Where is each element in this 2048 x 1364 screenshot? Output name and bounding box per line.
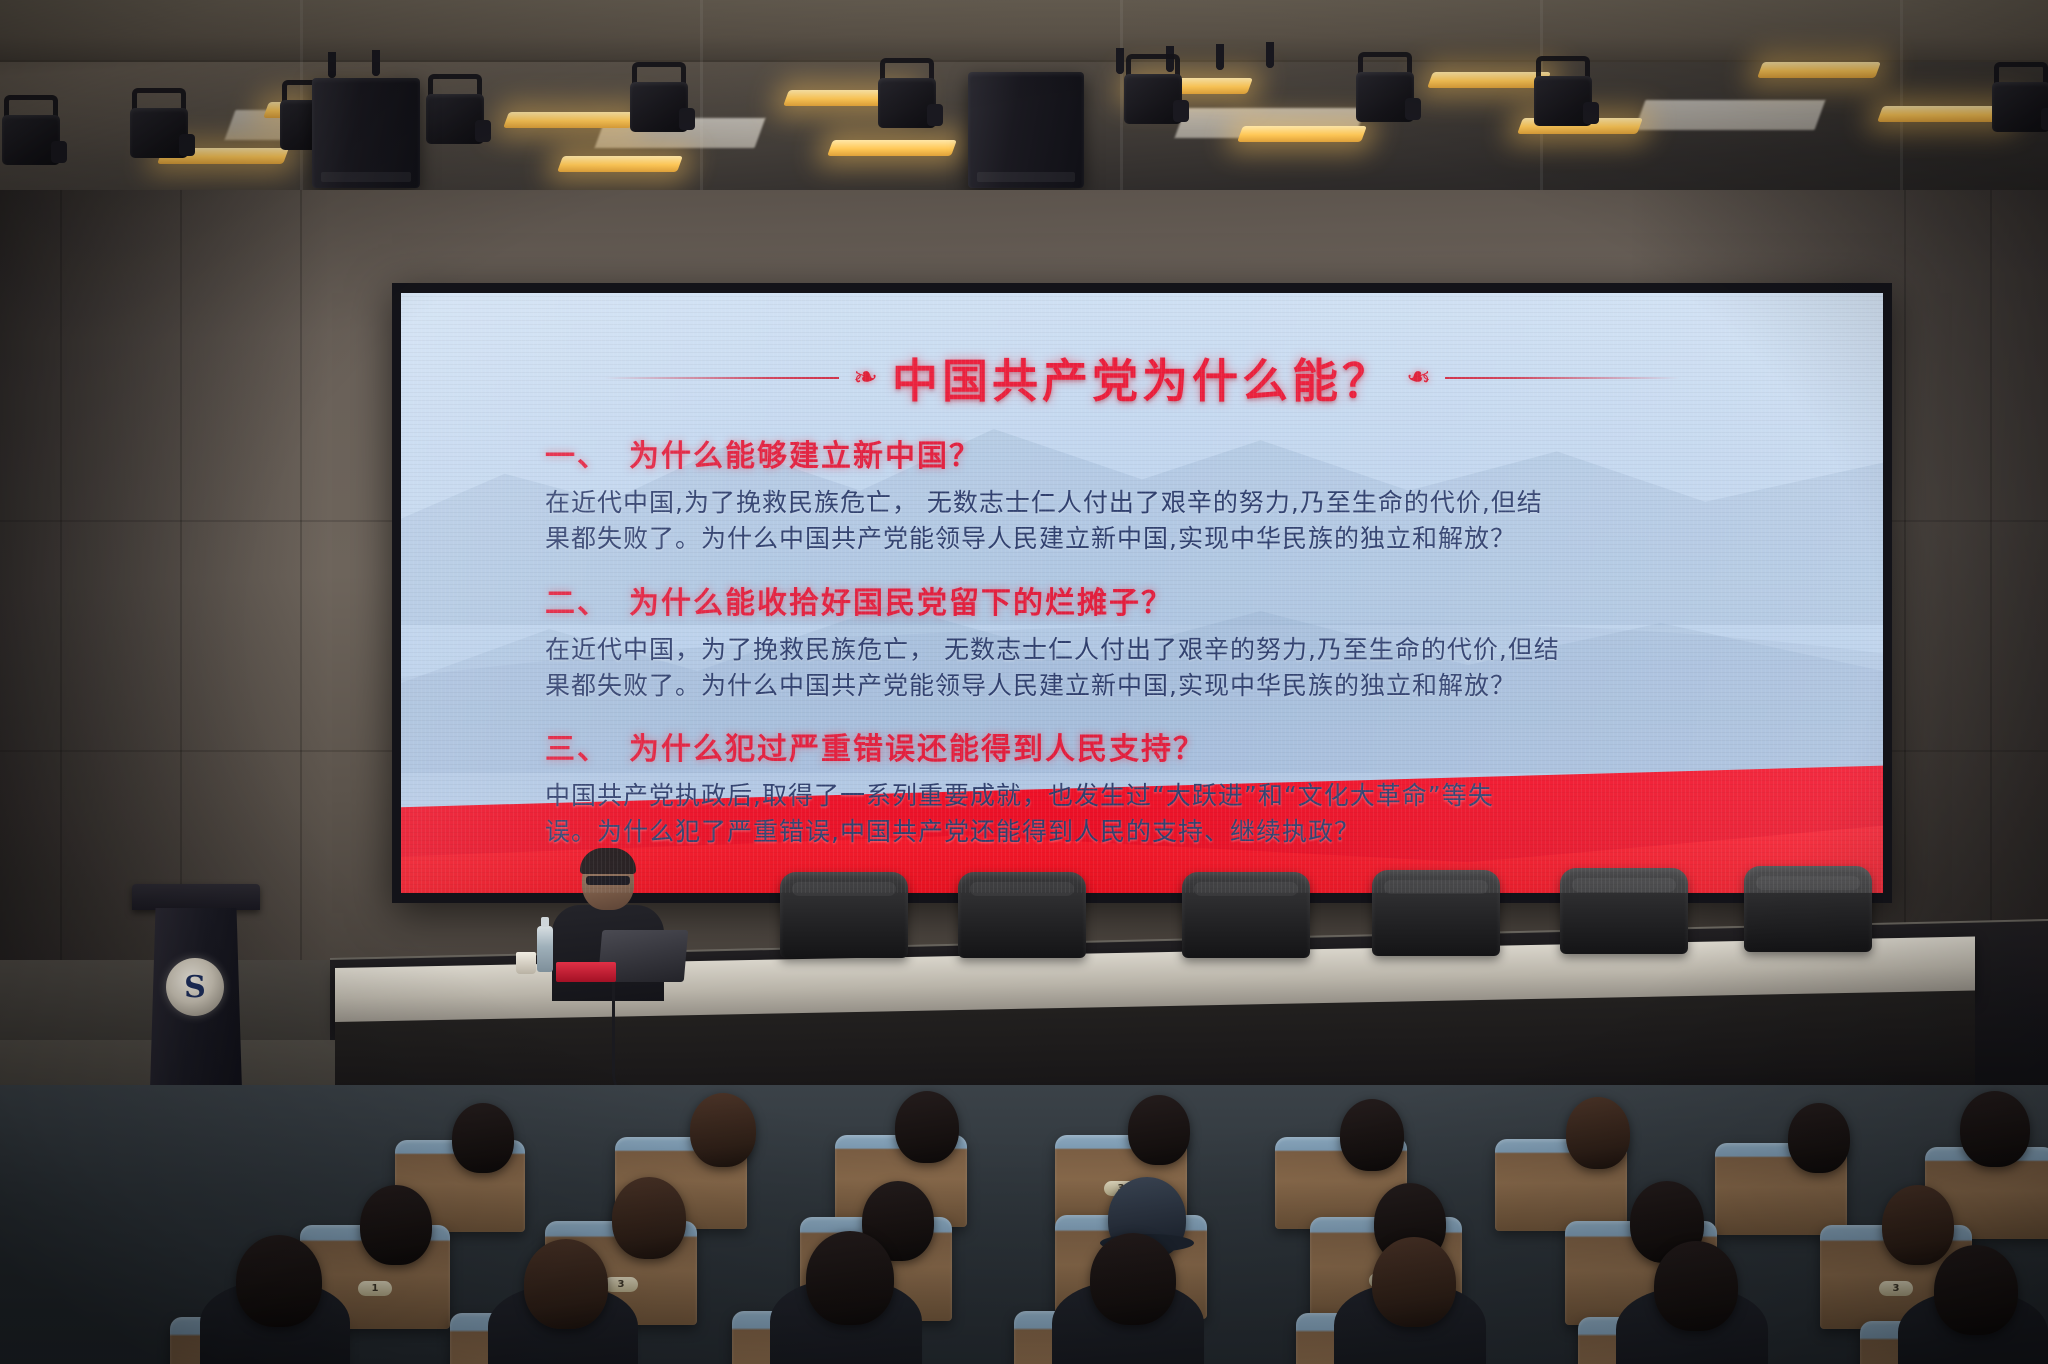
- wall-shadow: [0, 190, 330, 980]
- ceiling-panel: [1635, 100, 1826, 130]
- stage-light-icon: [1354, 52, 1416, 126]
- audience-head: [1654, 1241, 1738, 1331]
- ceiling-beam: [0, 0, 2048, 62]
- audience-head: [895, 1091, 959, 1163]
- stage-light-icon: [1990, 62, 2048, 136]
- section-body: 在近代中国，为了挽救民族危亡， 无数志士仁人付出了艰辛的努力,乃至生命的代价,但…: [545, 632, 1760, 705]
- rigging-hook-icon: [328, 52, 336, 78]
- flourish-ornament-icon: ❧: [851, 362, 879, 394]
- section-body-line: 果都失败了。为什么中国共产党能领导人民建立新中国,实现中华民族的独立和解放？: [545, 668, 1760, 704]
- audience-head: [1128, 1095, 1190, 1165]
- seat-number-plate: 1: [358, 1281, 392, 1296]
- ceiling-speaker: [312, 78, 420, 188]
- stage-light-icon: [424, 74, 486, 148]
- audience-head: [806, 1231, 894, 1325]
- audience-area: 3 1 3 1 1 3: [0, 1085, 2048, 1364]
- podium-top: [132, 884, 260, 910]
- section-body-line: 中国共产党执政后,取得了一系列重要成就，也发生过“大跃进”和“文化大革命”等失: [545, 778, 1760, 814]
- audience-head: [236, 1235, 322, 1327]
- stage-light-icon: [0, 95, 62, 169]
- section-body-line: 果都失败了。为什么中国共产党能领导人民建立新中国,实现中华民族的独立和解放？: [545, 521, 1760, 557]
- seat-number-plate: 3: [1879, 1281, 1913, 1296]
- audience-head: [360, 1185, 432, 1265]
- section-body-line: 误。为什么犯了严重错误,中国共产党还能得到人民的支持、继续执政？: [545, 814, 1760, 850]
- section-heading: 三、为什么犯过严重错误还能得到人民支持？: [545, 724, 1825, 768]
- paper-cup-icon: [516, 952, 536, 974]
- stage-light-icon: [1122, 54, 1184, 128]
- section-body-line: 在近代中国，为了挽救民族危亡， 无数志士仁人付出了艰辛的努力,乃至生命的代价,但…: [545, 632, 1760, 668]
- audience-head: [1090, 1233, 1176, 1325]
- title-rule-right: [1445, 377, 1680, 379]
- ceiling: [0, 0, 2048, 210]
- ceiling-light-strip: [827, 140, 957, 156]
- podium-emblem-icon: S: [166, 958, 224, 1016]
- stage-light-icon: [1532, 56, 1594, 130]
- led-video-wall: ❧ 中国共产党为什么能？ ❧ 一、为什么能够建立新中国？ 在近代中国,为了挽救民…: [392, 283, 1892, 903]
- audience-head: [1882, 1185, 1954, 1265]
- slide-content: ❧ 中国共产党为什么能？ ❧ 一、为什么能够建立新中国？ 在近代中国,为了挽救民…: [401, 293, 1883, 893]
- section-heading: 二、为什么能收拾好国民党留下的烂摊子？: [545, 578, 1825, 622]
- title-rule-left: [604, 377, 839, 379]
- stage-light-icon: [876, 58, 938, 132]
- audience-head: [1960, 1091, 2030, 1167]
- rigging-hook-icon: [1266, 42, 1274, 68]
- audience-head: [452, 1103, 514, 1173]
- stage-light-icon: [628, 62, 690, 136]
- section-heading-text: 为什么犯过严重错误还能得到人民支持？: [629, 732, 1205, 767]
- presentation-screen: ❧ 中国共产党为什么能？ ❧ 一、为什么能够建立新中国？ 在近代中国,为了挽救民…: [401, 293, 1883, 893]
- section-heading-text: 为什么能收拾好国民党留下的烂摊子？: [629, 586, 1173, 621]
- flourish-ornament-icon: ❧: [1405, 362, 1433, 394]
- slide-title: 中国共产党为什么能？: [892, 345, 1392, 411]
- rigging-hook-icon: [372, 50, 380, 76]
- stage-light-icon: [128, 88, 190, 162]
- audience-head: [1566, 1097, 1630, 1169]
- section-body-line: 在近代中国,为了挽救民族危亡， 无数志士仁人付出了艰辛的努力,乃至生命的代价,但…: [545, 485, 1760, 521]
- section-body: 在近代中国,为了挽救民族危亡， 无数志士仁人付出了艰辛的努力,乃至生命的代价,但…: [545, 485, 1760, 558]
- section-number: 三、: [545, 732, 609, 767]
- auditorium-scene: ❧ 中国共产党为什么能？ ❧ 一、为什么能够建立新中国？ 在近代中国,为了挽救民…: [0, 0, 2048, 1364]
- seat-number-plate: 3: [604, 1277, 638, 1292]
- section-heading-text: 为什么能够建立新中国？: [629, 439, 981, 474]
- section-number: 二、: [545, 586, 609, 621]
- audience-head: [690, 1093, 756, 1167]
- slide-section-2: 二、为什么能收拾好国民党留下的烂摊子？ 在近代中国，为了挽救民族危亡， 无数志士…: [459, 578, 1825, 705]
- audience-head: [1934, 1245, 2018, 1335]
- section-number: 一、: [545, 439, 609, 474]
- audience-head: [524, 1239, 608, 1329]
- ceiling-speaker: [968, 72, 1084, 188]
- rigging-hook-icon: [1216, 44, 1224, 70]
- ceiling-seam: [700, 0, 703, 210]
- audience-head: [1788, 1103, 1850, 1173]
- slide-title-row: ❧ 中国共产党为什么能？ ❧: [459, 345, 1825, 411]
- ceiling-seam: [1900, 0, 1903, 210]
- ceiling-light-strip: [1757, 62, 1881, 78]
- ceiling-light-strip: [557, 156, 683, 172]
- slide-section-1: 一、为什么能够建立新中国？ 在近代中国,为了挽救民族危亡， 无数志士仁人付出了艰…: [459, 431, 1825, 558]
- section-body: 中国共产党执政后,取得了一系列重要成就，也发生过“大跃进”和“文化大革命”等失 …: [545, 778, 1760, 851]
- section-heading: 一、为什么能够建立新中国？: [545, 431, 1825, 475]
- water-bottle-icon: [537, 926, 553, 972]
- ceiling-light-strip: [503, 112, 637, 128]
- audience-head: [612, 1177, 686, 1259]
- slide-section-3: 三、为什么犯过严重错误还能得到人民支持？ 中国共产党执政后,取得了一系列重要成就…: [459, 724, 1825, 851]
- red-box-item: [556, 962, 616, 982]
- audience-head: [1340, 1099, 1404, 1171]
- audience-head: [1372, 1237, 1456, 1327]
- ceiling-light-strip: [1237, 126, 1367, 142]
